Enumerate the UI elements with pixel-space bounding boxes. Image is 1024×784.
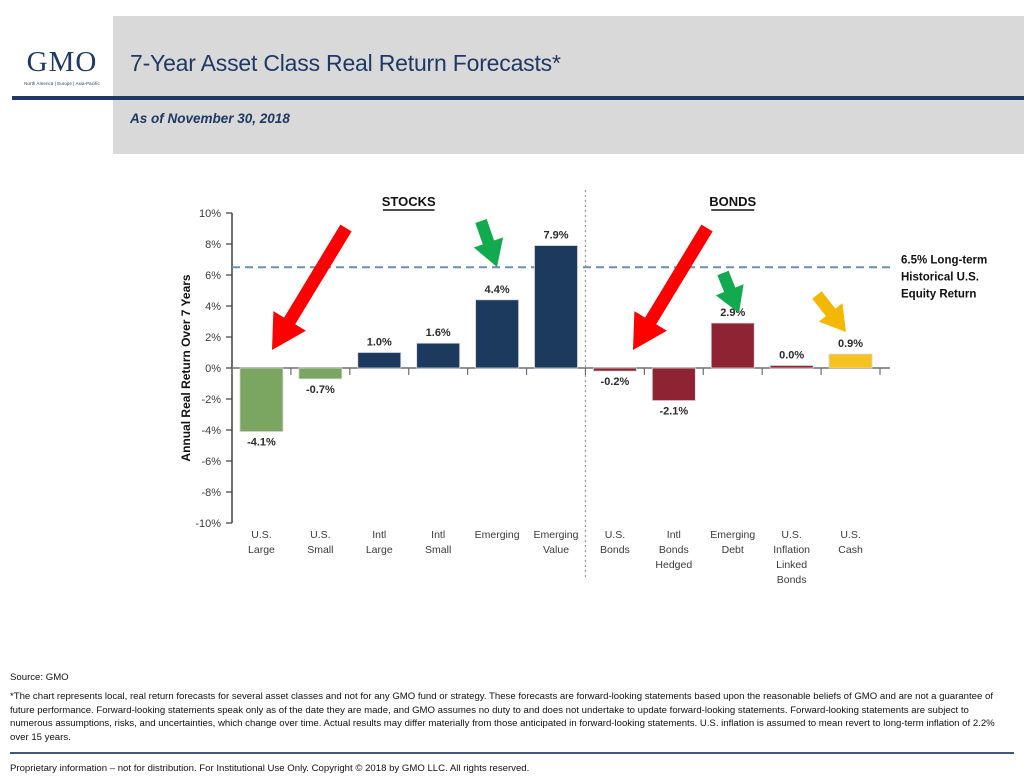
reference-annotation-line: 6.5% Long-term — [901, 254, 987, 266]
bar — [240, 368, 283, 432]
y-tick-label: 4% — [205, 301, 221, 313]
source-line: Source: GMO — [10, 672, 1014, 683]
reference-annotation-line: Equity Return — [901, 288, 976, 300]
category-label: Value — [543, 544, 569, 556]
bar — [652, 368, 695, 401]
bar-value-label: 0.9% — [838, 338, 863, 350]
bar — [711, 323, 754, 368]
bar — [770, 366, 813, 369]
group-heading: STOCKS — [382, 194, 436, 209]
y-tick-label: -10% — [195, 518, 221, 530]
footer-rule — [10, 752, 1014, 754]
category-label: Emerging — [710, 529, 755, 541]
bar-value-label: 7.9% — [543, 230, 568, 242]
bar-value-label: 1.0% — [367, 337, 392, 349]
category-label: U.S. — [781, 529, 801, 541]
category-label: Small — [425, 544, 451, 556]
bar-value-label: 0.0% — [779, 350, 804, 362]
reference-line-annotation: 6.5% Long-termHistorical U.S.Equity Retu… — [901, 254, 987, 300]
category-label: Small — [307, 544, 333, 556]
green-arrow-stocks-icon — [474, 219, 503, 267]
bar-value-label: -0.7% — [306, 384, 335, 396]
header-navy-rule — [12, 96, 1024, 100]
category-label: Emerging — [534, 529, 579, 541]
bar-series — [240, 246, 872, 432]
y-tick-label: -6% — [201, 456, 221, 468]
y-tick-label: 8% — [205, 239, 221, 251]
bar-value-label: 1.6% — [426, 327, 451, 339]
yellow-arrow-bonds-icon — [812, 291, 846, 332]
category-label: Debt — [722, 544, 744, 556]
header-band — [113, 16, 1024, 154]
y-tick-label: -2% — [201, 394, 221, 406]
y-tick-label: -4% — [201, 425, 221, 437]
y-axis-title: Annual Real Return Over 7 Years — [179, 274, 193, 462]
category-label: Inflation — [773, 544, 810, 556]
category-label: Bonds — [777, 574, 807, 586]
bar-value-label: -4.1% — [247, 437, 276, 449]
y-tick-label: 6% — [205, 270, 221, 282]
bar-chart: STOCKSBONDS 10%8%6%4%2%0%-2%-4%-6%-8%-10… — [0, 180, 1024, 620]
category-label: U.S. — [840, 529, 860, 541]
bar-value-label: 2.9% — [720, 307, 745, 319]
bar — [417, 343, 460, 368]
logo-wordmark: GMO — [14, 48, 110, 77]
bar — [829, 354, 872, 368]
reference-annotation-line: Historical U.S. — [901, 271, 979, 283]
logo-tagline: North America | Europe | Asia-Pacific — [14, 81, 110, 86]
red-arrow-stocks-icon — [272, 225, 352, 350]
page-subtitle: As of November 30, 2018 — [130, 111, 290, 126]
category-label: Large — [248, 544, 275, 556]
bar — [593, 368, 636, 371]
page-title: 7-Year Asset Class Real Return Forecasts… — [130, 50, 561, 77]
category-label: U.S. — [605, 529, 625, 541]
category-label: Hedged — [655, 559, 692, 571]
y-tick-label: 2% — [205, 332, 221, 344]
category-label: Bonds — [600, 544, 630, 556]
category-label: Bonds — [659, 544, 689, 556]
category-label: U.S. — [251, 529, 271, 541]
y-tick-label: -8% — [201, 487, 221, 499]
category-label: Intl — [431, 529, 445, 541]
bar — [476, 300, 519, 368]
category-label: Emerging — [475, 529, 520, 541]
group-headings: STOCKSBONDS — [382, 194, 757, 210]
red-arrow-bonds-icon — [633, 225, 713, 350]
disclaimer-text: *The chart represents local, real return… — [10, 690, 1014, 744]
category-label: Intl — [667, 529, 681, 541]
category-label: U.S. — [310, 529, 330, 541]
group-heading: BONDS — [709, 194, 756, 209]
category-label: Intl — [372, 529, 386, 541]
bar — [299, 368, 342, 379]
bar — [358, 353, 401, 369]
footer: Source: GMO *The chart represents local,… — [10, 672, 1014, 774]
chart-container: STOCKSBONDS 10%8%6%4%2%0%-2%-4%-6%-8%-10… — [0, 180, 1024, 620]
category-labels: U.S.LargeU.S.SmallIntlLargeIntlSmallEmer… — [248, 529, 863, 586]
bar-value-label: -2.1% — [659, 406, 688, 418]
y-tick-label: 10% — [199, 208, 221, 220]
bar — [535, 246, 578, 368]
bar-value-label: -0.2% — [601, 376, 630, 388]
y-tick-label: 0% — [205, 363, 221, 375]
category-label: Cash — [838, 544, 863, 556]
category-label: Large — [366, 544, 393, 556]
category-label: Linked — [776, 559, 807, 571]
copyright-text: Proprietary information – not for distri… — [10, 763, 1014, 774]
bar-value-label: 4.4% — [485, 284, 510, 296]
gmo-logo: GMO North America | Europe | Asia-Pacifi… — [14, 48, 110, 86]
